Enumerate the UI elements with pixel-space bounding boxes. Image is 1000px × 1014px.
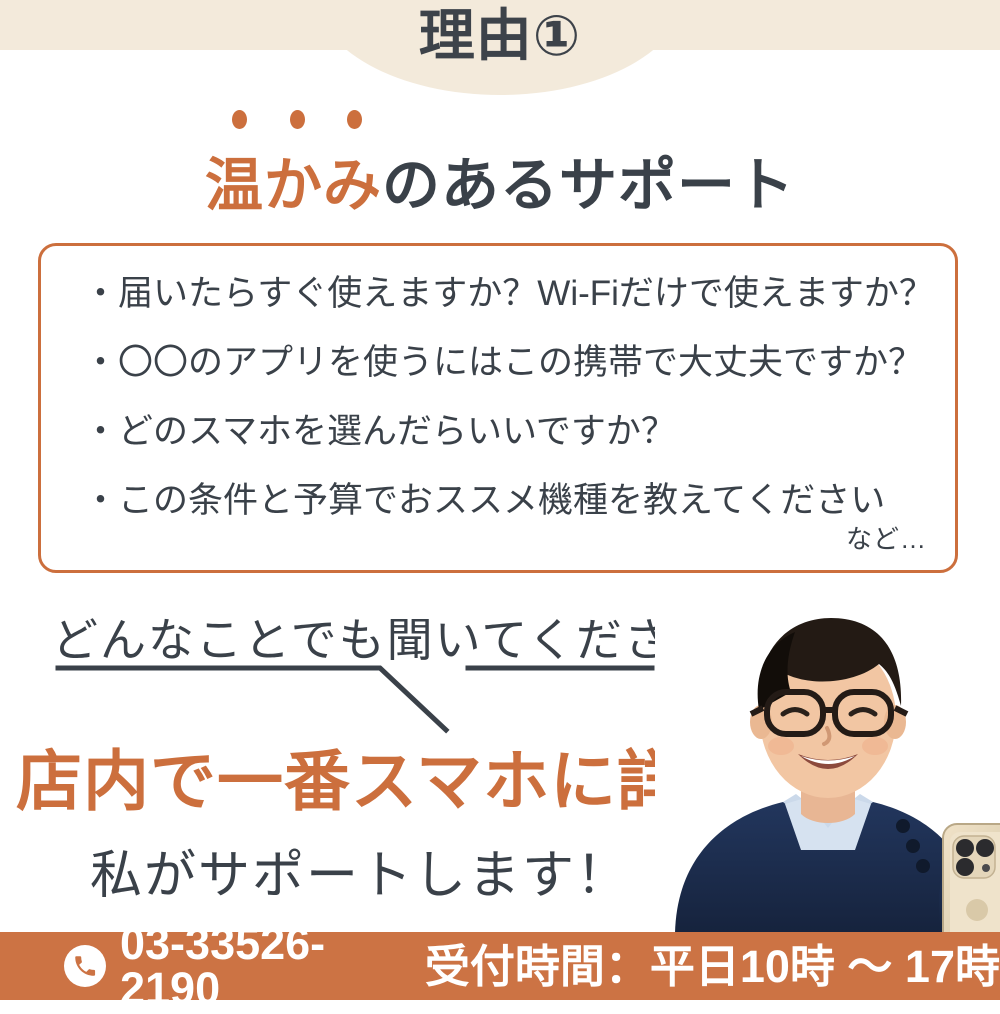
list-item: ・届いたらすぐ使えますか？Wi-Fiだけで使えますか？: [83, 276, 933, 311]
phone-number-text[interactable]: 03-33526-2190: [120, 921, 381, 1011]
dot-3: [347, 110, 362, 129]
headline: 温かみのあるサポート: [0, 138, 1000, 222]
contact-footer-bar: 03-33526-2190 受付時間：平日10時 ～ 17時: [0, 932, 1000, 1000]
question-list-box: ・届いたらすぐ使えますか？Wi-Fiだけで使えますか？ ・〇〇のアプリを使うには…: [38, 243, 958, 573]
list-item: ・〇〇のアプリを使うにはこの携帯で大丈夫ですか？: [83, 345, 933, 380]
dot-2: [290, 110, 305, 129]
etc-note: など…: [846, 519, 927, 556]
decorative-dots: [232, 110, 362, 134]
support-text: 私がサポートします！: [0, 833, 720, 908]
business-hours-text: 受付時間：平日10時 ～ 17時: [425, 944, 1000, 989]
question-list: ・届いたらすぐ使えますか？Wi-Fiだけで使えますか？ ・〇〇のアプリを使うには…: [83, 276, 933, 518]
list-item: ・どのスマホを選んだらいいですか？: [83, 414, 933, 449]
list-item: ・この条件と予算でおススメ機種を教えてください: [83, 483, 933, 518]
headline-accent: 温かみ: [205, 153, 382, 218]
headline-rest: のあるサポート: [382, 153, 795, 218]
dot-1: [232, 110, 247, 129]
phone-handset-icon: [64, 945, 106, 987]
staff-photo: [655, 588, 1000, 933]
page-title: 理由①: [0, 8, 1000, 64]
